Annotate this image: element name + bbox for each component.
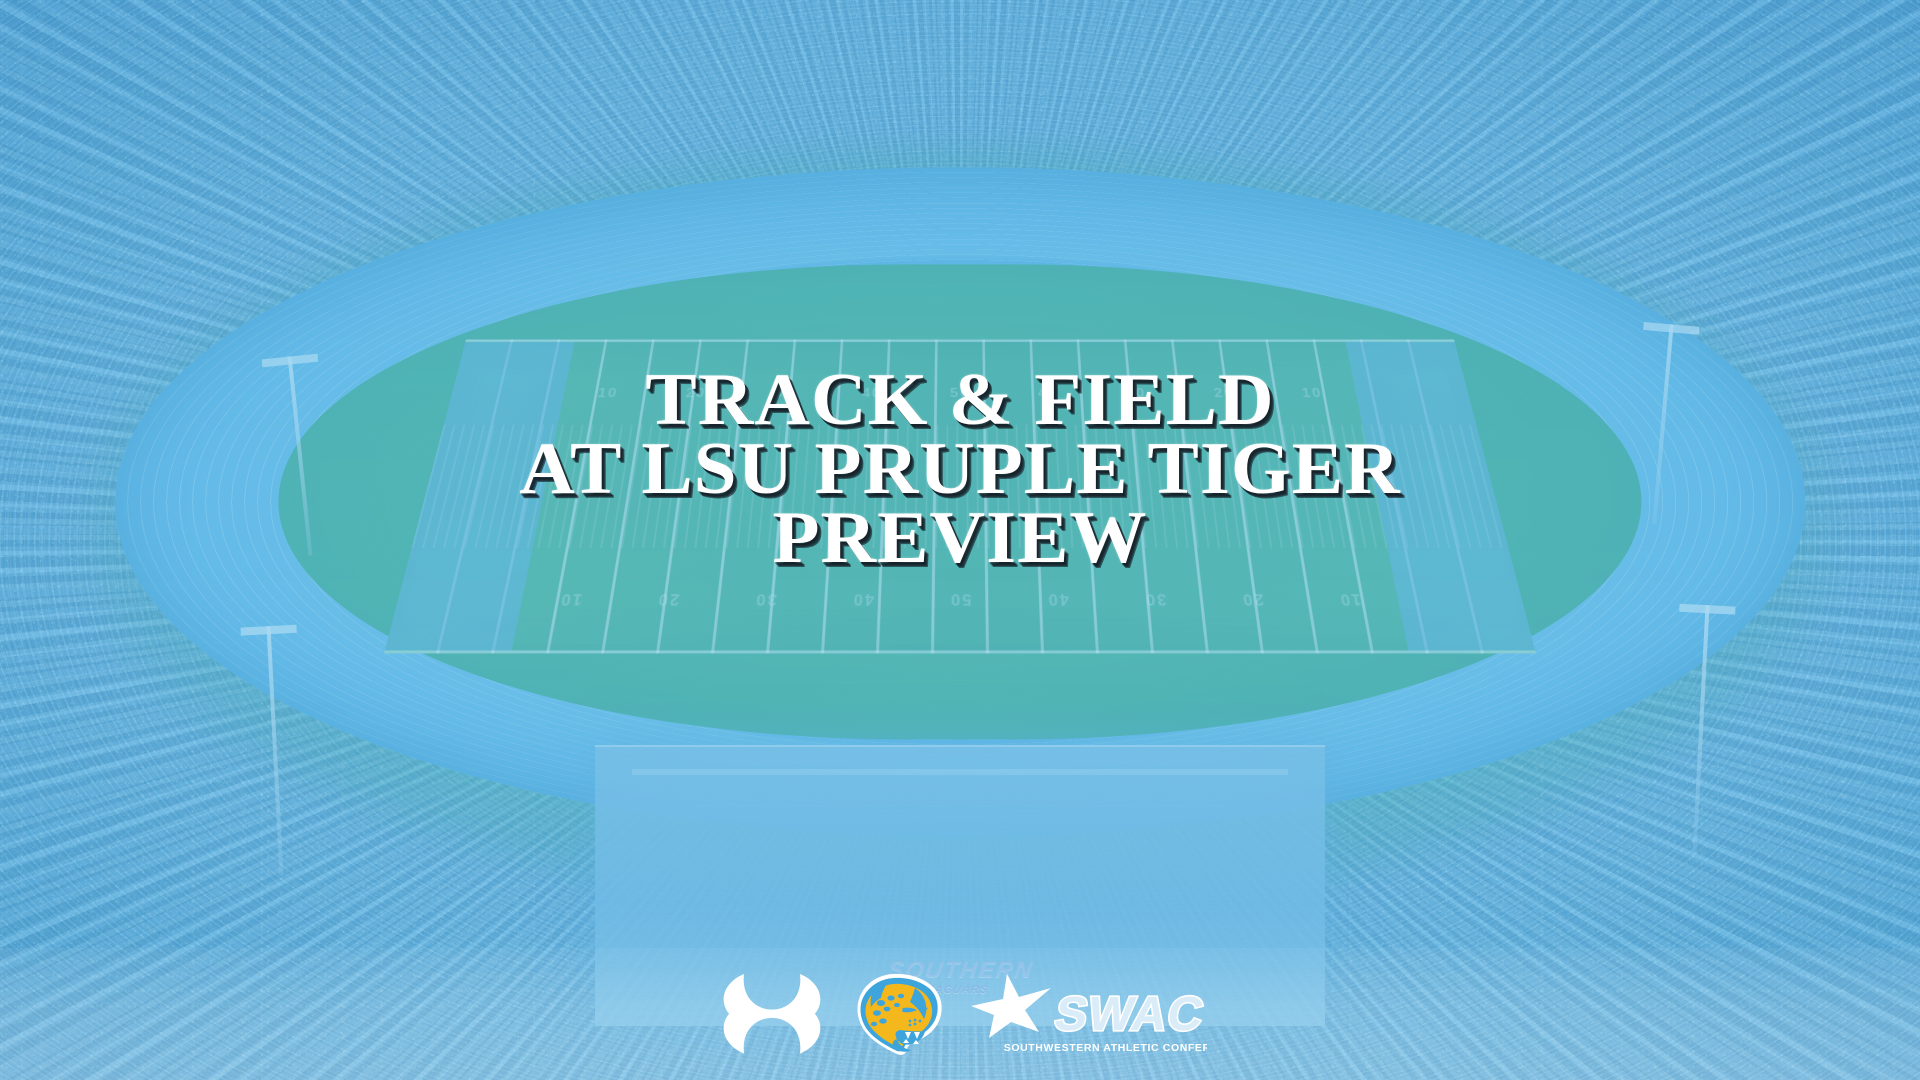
southern-jaguar-icon (853, 972, 945, 1060)
background-photo: 10 20 30 40 50 40 30 20 10 10 20 30 40 5… (0, 0, 1920, 1080)
graphic-canvas: 10 20 30 40 50 40 30 20 10 10 20 30 40 5… (0, 0, 1920, 1080)
swac-wordmark-text: SWAC (1051, 987, 1207, 1041)
footer-logo-band: SWAC SOUTHWESTERN ATHLETIC CONFERENCE (0, 948, 1920, 1080)
under-armour-icon (713, 974, 831, 1058)
swac-icon: SWAC SOUTHWESTERN ATHLETIC CONFERENCE (967, 972, 1207, 1060)
logo-row: SWAC SOUTHWESTERN ATHLETIC CONFERENCE (713, 960, 1207, 1072)
swac-subtitle-text: SOUTHWESTERN ATHLETIC CONFERENCE (1004, 1042, 1207, 1054)
blue-tint-overlay-flat (0, 0, 1920, 1080)
